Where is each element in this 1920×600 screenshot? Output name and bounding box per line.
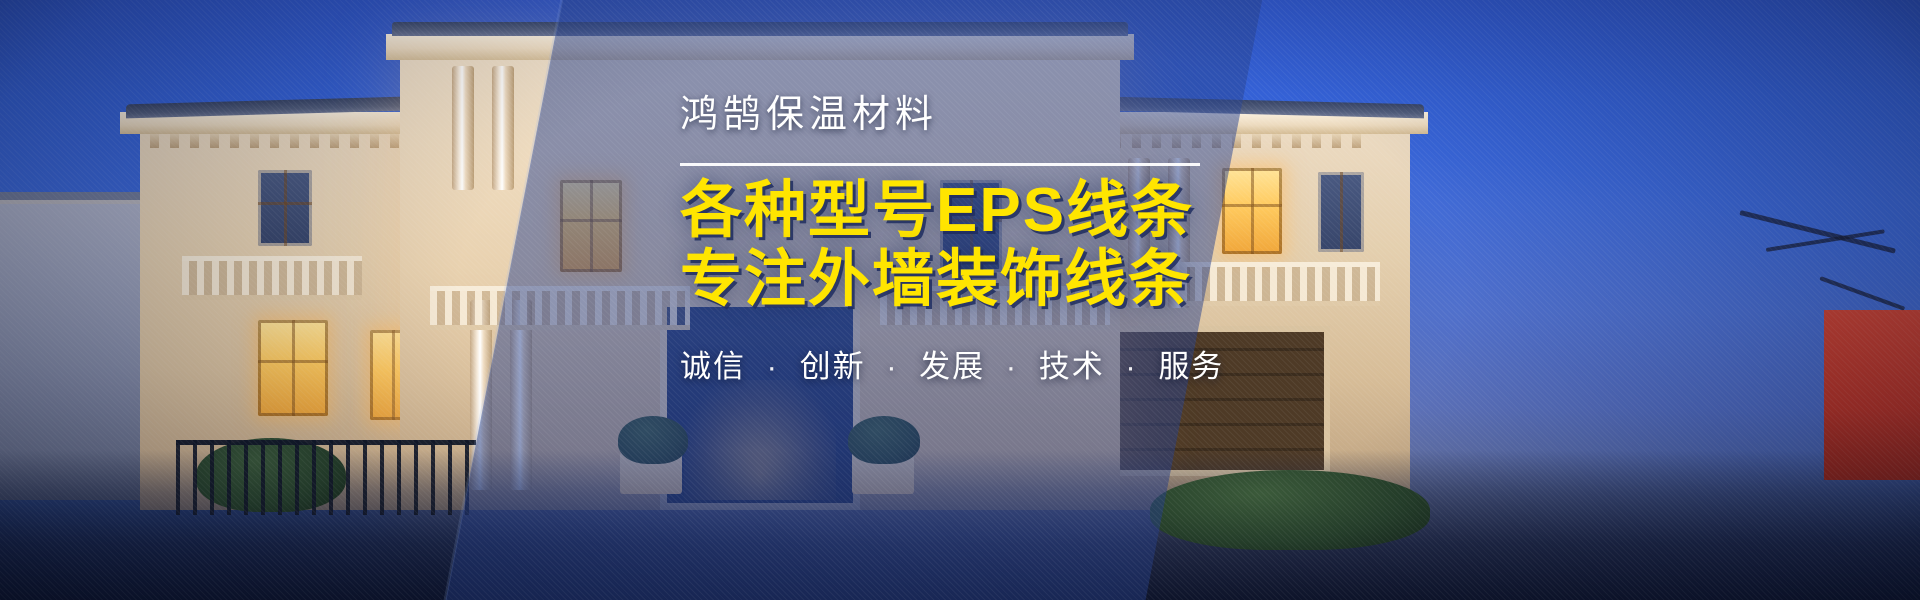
- dentil: [150, 134, 159, 148]
- dentil: [390, 134, 399, 148]
- tagline: 诚信 · 创新 · 发展 · 技术 · 服务: [680, 341, 1320, 386]
- window: [1318, 172, 1364, 252]
- column: [452, 66, 474, 190]
- dentil: [350, 134, 359, 148]
- window: [258, 170, 312, 246]
- tagline-separator: ·: [1125, 349, 1137, 384]
- dentil: [330, 134, 339, 148]
- dentil: [270, 134, 279, 148]
- tagline-item-2: 创新: [800, 349, 866, 384]
- dentil: [250, 134, 259, 148]
- headline-line-1: 各种型号EPS线条: [680, 176, 1320, 245]
- column: [492, 66, 514, 190]
- balustrade: [182, 256, 362, 300]
- dentil: [370, 134, 379, 148]
- company-name: 鸿鹄保温材料: [680, 95, 1320, 137]
- hero-banner: 鸿鹄保温材料 各种型号EPS线条 专注外墙装饰线条 诚信 · 创新 · 发展 ·…: [0, 0, 1920, 600]
- dentil: [1332, 134, 1341, 148]
- dentil: [290, 134, 299, 148]
- dentil: [190, 134, 199, 148]
- villa-center-columns-upper: [452, 66, 514, 190]
- headline-line-2: 专注外墙装饰线条: [680, 245, 1320, 314]
- tagline-item-1: 诚信: [680, 349, 746, 384]
- villa-left-dentils: [150, 134, 399, 148]
- tagline-separator: ·: [886, 349, 898, 384]
- tagline-separator: ·: [767, 349, 779, 384]
- dentil: [170, 134, 179, 148]
- tagline-item-4: 技术: [1039, 349, 1105, 384]
- window-lit: [258, 320, 328, 416]
- banner-copy: 鸿鹄保温材料 各种型号EPS线条 专注外墙装饰线条 诚信 · 创新 · 发展 ·…: [680, 95, 1320, 386]
- dentil: [230, 134, 239, 148]
- dentil: [210, 134, 219, 148]
- divider-rule: [680, 163, 1200, 166]
- dentil: [1352, 134, 1361, 148]
- iron-railing: [176, 440, 476, 515]
- shrub: [1150, 470, 1430, 550]
- tagline-item-5: 服务: [1158, 349, 1224, 384]
- tagline-separator: ·: [1006, 349, 1018, 384]
- tagline-item-3: 发展: [919, 349, 985, 384]
- red-structure: [1824, 310, 1920, 480]
- dentil: [310, 134, 319, 148]
